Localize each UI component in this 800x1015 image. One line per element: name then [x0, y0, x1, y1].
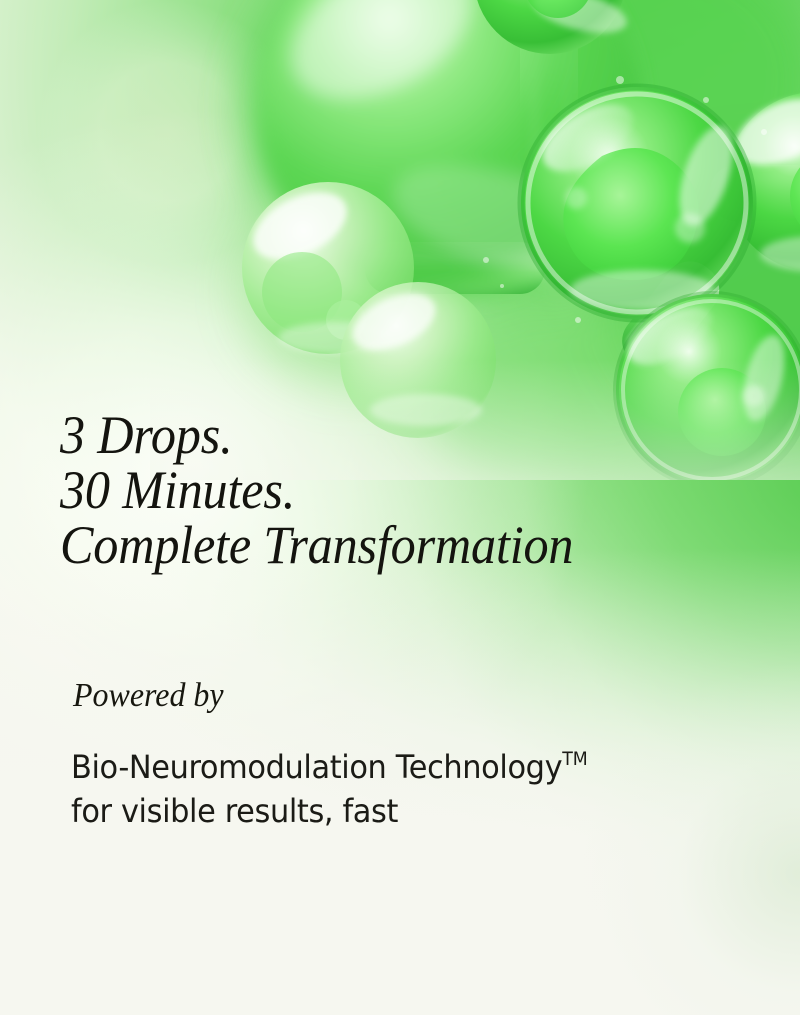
page-title: 3 Drops. 30 Minutes. Complete Transforma… [60, 408, 711, 573]
technology-statement: Bio-Neuromodulation TechnologyTM for vis… [71, 745, 588, 833]
technology-benefit: for visible results, fast [71, 789, 588, 833]
powered-by-label: Powered by [73, 678, 224, 714]
trademark-symbol: TM [562, 749, 588, 770]
marketing-banner: 3 Drops. 30 Minutes. Complete Transforma… [0, 0, 800, 1015]
copy-block: 3 Drops. 30 Minutes. Complete Transforma… [0, 0, 800, 1015]
headline-line-2: 30 Minutes. [60, 463, 711, 518]
headline-line-3: Complete Transformation [60, 518, 711, 573]
technology-name: Bio-Neuromodulation Technology [71, 748, 562, 786]
headline-line-1: 3 Drops. [60, 408, 711, 463]
technology-name-line: Bio-Neuromodulation TechnologyTM [71, 745, 588, 789]
